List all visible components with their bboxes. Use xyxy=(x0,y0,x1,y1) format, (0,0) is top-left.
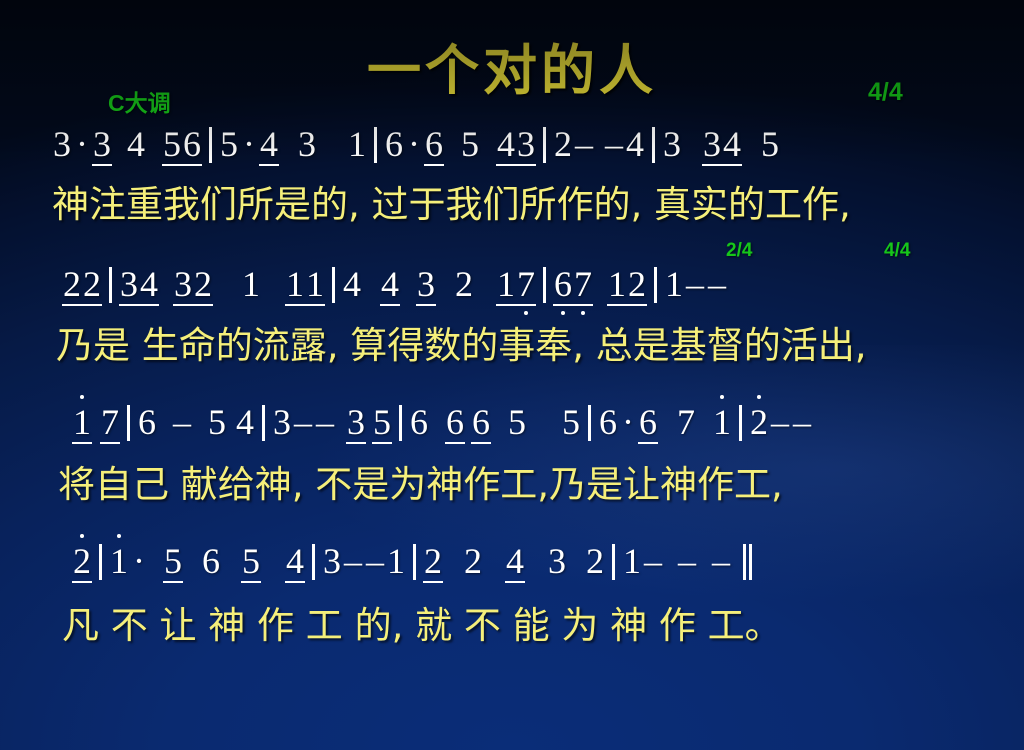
note-digit: 5 xyxy=(372,404,392,444)
note-digit: 4 xyxy=(139,266,159,306)
note-digit: 3 xyxy=(52,126,72,162)
barline xyxy=(413,544,416,580)
note-digit: 1 xyxy=(109,543,129,579)
note-digit: 1 xyxy=(664,266,684,302)
duration-dash: – xyxy=(706,266,728,302)
note-digit: 5 xyxy=(760,126,780,162)
note-digit: 5 xyxy=(460,126,480,162)
note-digit: 2 xyxy=(82,266,102,306)
note-digit: 4 xyxy=(496,126,516,166)
note-digit: 3 xyxy=(662,126,682,162)
note-digit: 3 xyxy=(547,543,567,579)
note-digit: 5 xyxy=(507,404,527,440)
note-digit: 2 xyxy=(72,543,92,583)
duration-dash: – xyxy=(710,543,732,579)
note-digit: 5 xyxy=(219,126,239,162)
barline xyxy=(262,405,265,441)
note-digit: 6 xyxy=(598,404,618,440)
note-digit: 3 xyxy=(92,126,112,166)
duration-dash: – xyxy=(642,543,664,579)
note-digit: 3 xyxy=(322,543,342,579)
note-digit: 5 xyxy=(207,404,227,440)
note-digit: 6 xyxy=(182,126,202,166)
note-digit: 3 xyxy=(297,126,317,162)
augmentation-dot: · xyxy=(72,126,92,162)
note-digit: 7 xyxy=(676,404,696,440)
note-digit: 6 xyxy=(384,126,404,162)
note-digit: 6 xyxy=(553,266,573,306)
duration-dash: – xyxy=(769,404,791,440)
note-digit: 7 xyxy=(516,266,536,306)
augmentation-dot: · xyxy=(618,404,638,440)
barline xyxy=(654,267,657,303)
duration-dash: – xyxy=(292,404,314,440)
barline xyxy=(588,405,591,441)
note-digit: 3 xyxy=(119,266,139,306)
notation-line: 22343211144321767121–– xyxy=(0,266,1024,306)
note-digit: 1 xyxy=(712,404,732,440)
note-digit: 2 xyxy=(585,543,605,579)
note-digit: 5 xyxy=(241,543,261,583)
note-digit: 2 xyxy=(749,404,769,440)
note-digit: 1 xyxy=(622,543,642,579)
note-digit: 3 xyxy=(272,404,292,440)
note-digit: 6 xyxy=(445,404,465,444)
note-digit: 2 xyxy=(62,266,82,306)
note-digit: 1 xyxy=(72,404,92,444)
note-digit: 7 xyxy=(573,266,593,306)
barline xyxy=(312,544,315,580)
duration-dash: – xyxy=(603,126,625,162)
lyric-line: 凡 不 让 神 作 工 的, 就 不 能 为 神 作 工。 xyxy=(0,607,1024,644)
note-digit: 2 xyxy=(463,543,483,579)
note-digit: 4 xyxy=(342,266,362,302)
music-staves: 3·34565·4316·65432––43345神注重我们所是的, 过于我们所… xyxy=(0,0,1024,750)
augmentation-dot: · xyxy=(404,126,424,162)
note-digit: 7 xyxy=(100,404,120,444)
duration-dash: – xyxy=(573,126,595,162)
barline xyxy=(209,127,212,163)
barline xyxy=(127,405,130,441)
slide-canvas: 一个对的人 C大调 4/4 2/44/4 3·34565·4316·65432–… xyxy=(0,0,1024,750)
note-digit: 4 xyxy=(259,126,279,166)
duration-dash: – xyxy=(791,404,813,440)
note-digit: 2 xyxy=(627,266,647,306)
notation-line: 3·34565·4316·65432––43345 xyxy=(0,126,1024,166)
barline xyxy=(612,544,615,580)
note-digit: 1 xyxy=(285,266,305,306)
duration-dash: – xyxy=(364,543,386,579)
duration-dash: – xyxy=(342,543,364,579)
note-digit: 4 xyxy=(505,543,525,583)
barline xyxy=(543,267,546,303)
note-digit: 5 xyxy=(561,404,581,440)
note-digit: 6 xyxy=(424,126,444,166)
note-digit: 1 xyxy=(386,543,406,579)
note-digit: 1 xyxy=(607,266,627,306)
barline xyxy=(332,267,335,303)
note-digit: 4 xyxy=(235,404,255,440)
note-digit: 6 xyxy=(409,404,429,440)
note-digit: 5 xyxy=(163,543,183,583)
lyric-line: 乃是 生命的流露, 算得数的事奉, 总是基督的活出, xyxy=(0,327,1024,364)
note-digit: 3 xyxy=(516,126,536,166)
note-digit: 6 xyxy=(201,543,221,579)
duration-dash: – xyxy=(684,266,706,302)
barline xyxy=(109,267,112,303)
barline xyxy=(99,544,102,580)
note-digit: 4 xyxy=(126,126,146,162)
augmentation-dot: · xyxy=(239,126,259,162)
duration-dash: – xyxy=(314,404,336,440)
note-digit: 4 xyxy=(380,266,400,306)
note-digit: 1 xyxy=(305,266,325,306)
notation-line: 21·56543––1224321––– xyxy=(0,543,1024,586)
note-digit: 2 xyxy=(193,266,213,306)
lyric-line: 将自己 献给神, 不是为神作工,乃是让神作工, xyxy=(0,466,1024,503)
note-digit: 2 xyxy=(423,543,443,583)
barline xyxy=(543,127,546,163)
duration-dash: – xyxy=(171,404,193,440)
final-barline xyxy=(740,544,752,586)
barline xyxy=(652,127,655,163)
lyric-line: 神注重我们所是的, 过于我们所作的, 真实的工作, xyxy=(0,186,1024,223)
note-digit: 2 xyxy=(454,266,474,302)
note-digit: 4 xyxy=(625,126,645,162)
note-digit: 2 xyxy=(553,126,573,162)
note-digit: 4 xyxy=(285,543,305,583)
barline xyxy=(399,405,402,441)
note-digit: 6 xyxy=(638,404,658,444)
duration-dash: – xyxy=(676,543,698,579)
note-digit: 4 xyxy=(722,126,742,166)
note-digit: 1 xyxy=(496,266,516,306)
note-digit: 3 xyxy=(416,266,436,306)
note-digit: 3 xyxy=(702,126,722,166)
note-digit: 6 xyxy=(471,404,491,444)
note-digit: 5 xyxy=(162,126,182,166)
notation-line: 176–543––35666556·6712–– xyxy=(0,404,1024,444)
barline xyxy=(739,405,742,441)
augmentation-dot: · xyxy=(129,543,149,579)
note-digit: 1 xyxy=(347,126,367,162)
barline xyxy=(374,127,377,163)
note-digit: 3 xyxy=(173,266,193,306)
note-digit: 3 xyxy=(346,404,366,444)
note-digit: 1 xyxy=(241,266,261,302)
note-digit: 6 xyxy=(137,404,157,440)
